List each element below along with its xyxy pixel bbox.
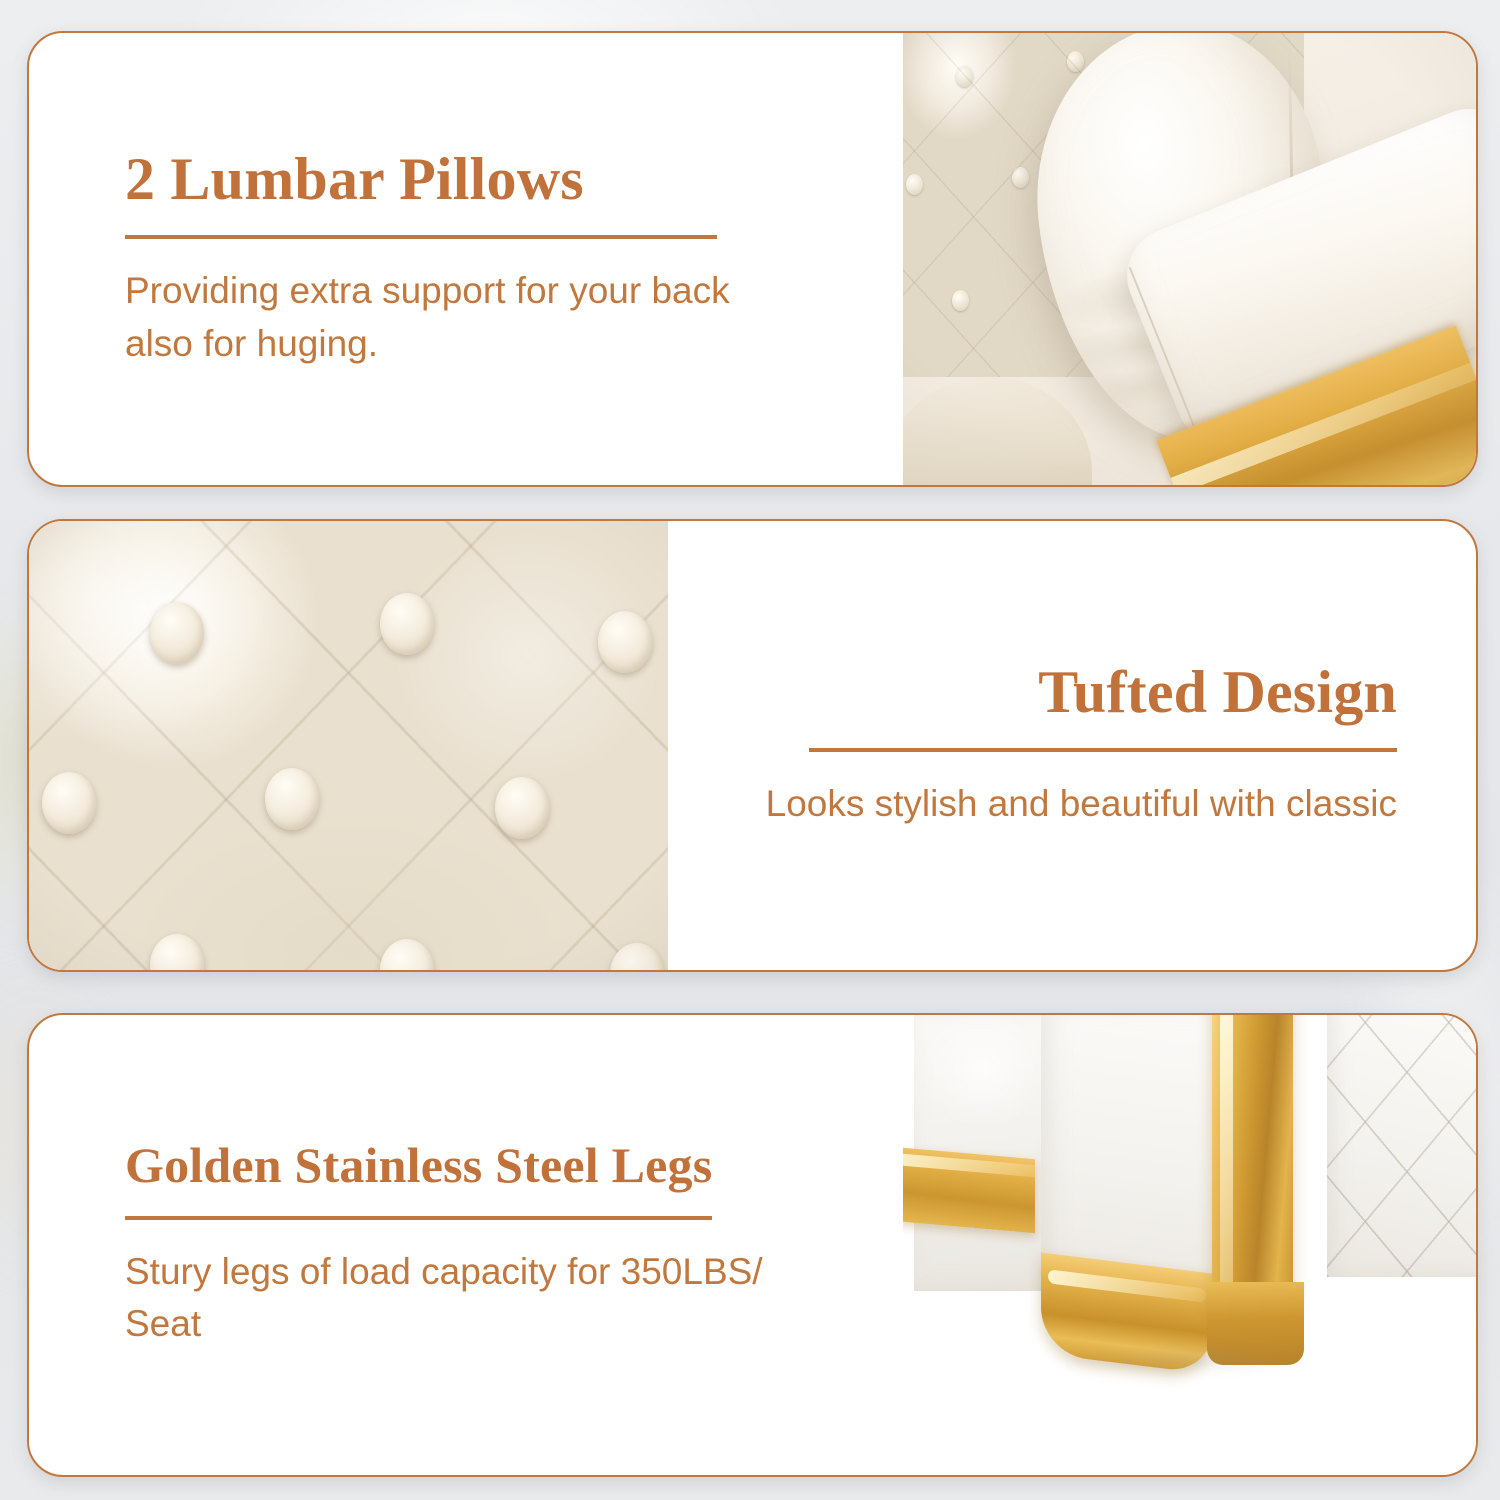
feature-photo-golden-legs <box>903 1015 1476 1475</box>
headline-divider <box>125 235 717 239</box>
feature-headline: Tufted Design <box>1038 661 1397 724</box>
feature-photo-lumbar-pillows <box>903 33 1476 485</box>
feature-text-pane: 2 Lumbar Pillows Providing extra support… <box>29 33 903 485</box>
feature-card-golden-legs: Golden Stainless Steel Legs Stury legs o… <box>27 1013 1478 1477</box>
gold-trim-rail <box>903 1147 1035 1233</box>
floor-shadow <box>1018 1346 1350 1374</box>
gold-corner-post <box>1212 1015 1292 1314</box>
diamond-quilted-side-panel <box>1327 1015 1476 1277</box>
photo-layer <box>29 521 668 970</box>
headline-divider <box>125 1216 712 1220</box>
photo-vignette <box>29 521 668 970</box>
feature-card-tufted-design: Tufted Design Looks stylish and beautifu… <box>27 519 1478 972</box>
feature-body-text: Providing extra support for your back al… <box>125 265 785 370</box>
feature-text-pane: Golden Stainless Steel Legs Stury legs o… <box>29 1015 903 1475</box>
feature-body-text: Looks stylish and beautiful with classic <box>766 778 1397 831</box>
photo-layer <box>903 33 1476 485</box>
feature-photo-tufted-design <box>29 521 668 970</box>
feature-headline: 2 Lumbar Pillows <box>125 148 903 211</box>
headline-divider <box>809 748 1397 752</box>
feature-card-lumbar-pillows: 2 Lumbar Pillows Providing extra support… <box>27 31 1478 487</box>
feature-headline: Golden Stainless Steel Legs <box>125 1139 903 1192</box>
photo-vignette <box>903 33 1476 485</box>
photo-layer <box>903 1015 1476 1475</box>
feature-body-text: Stury legs of load capacity for 350LBS/ … <box>125 1246 785 1351</box>
feature-text-pane: Tufted Design Looks stylish and beautifu… <box>668 521 1476 970</box>
